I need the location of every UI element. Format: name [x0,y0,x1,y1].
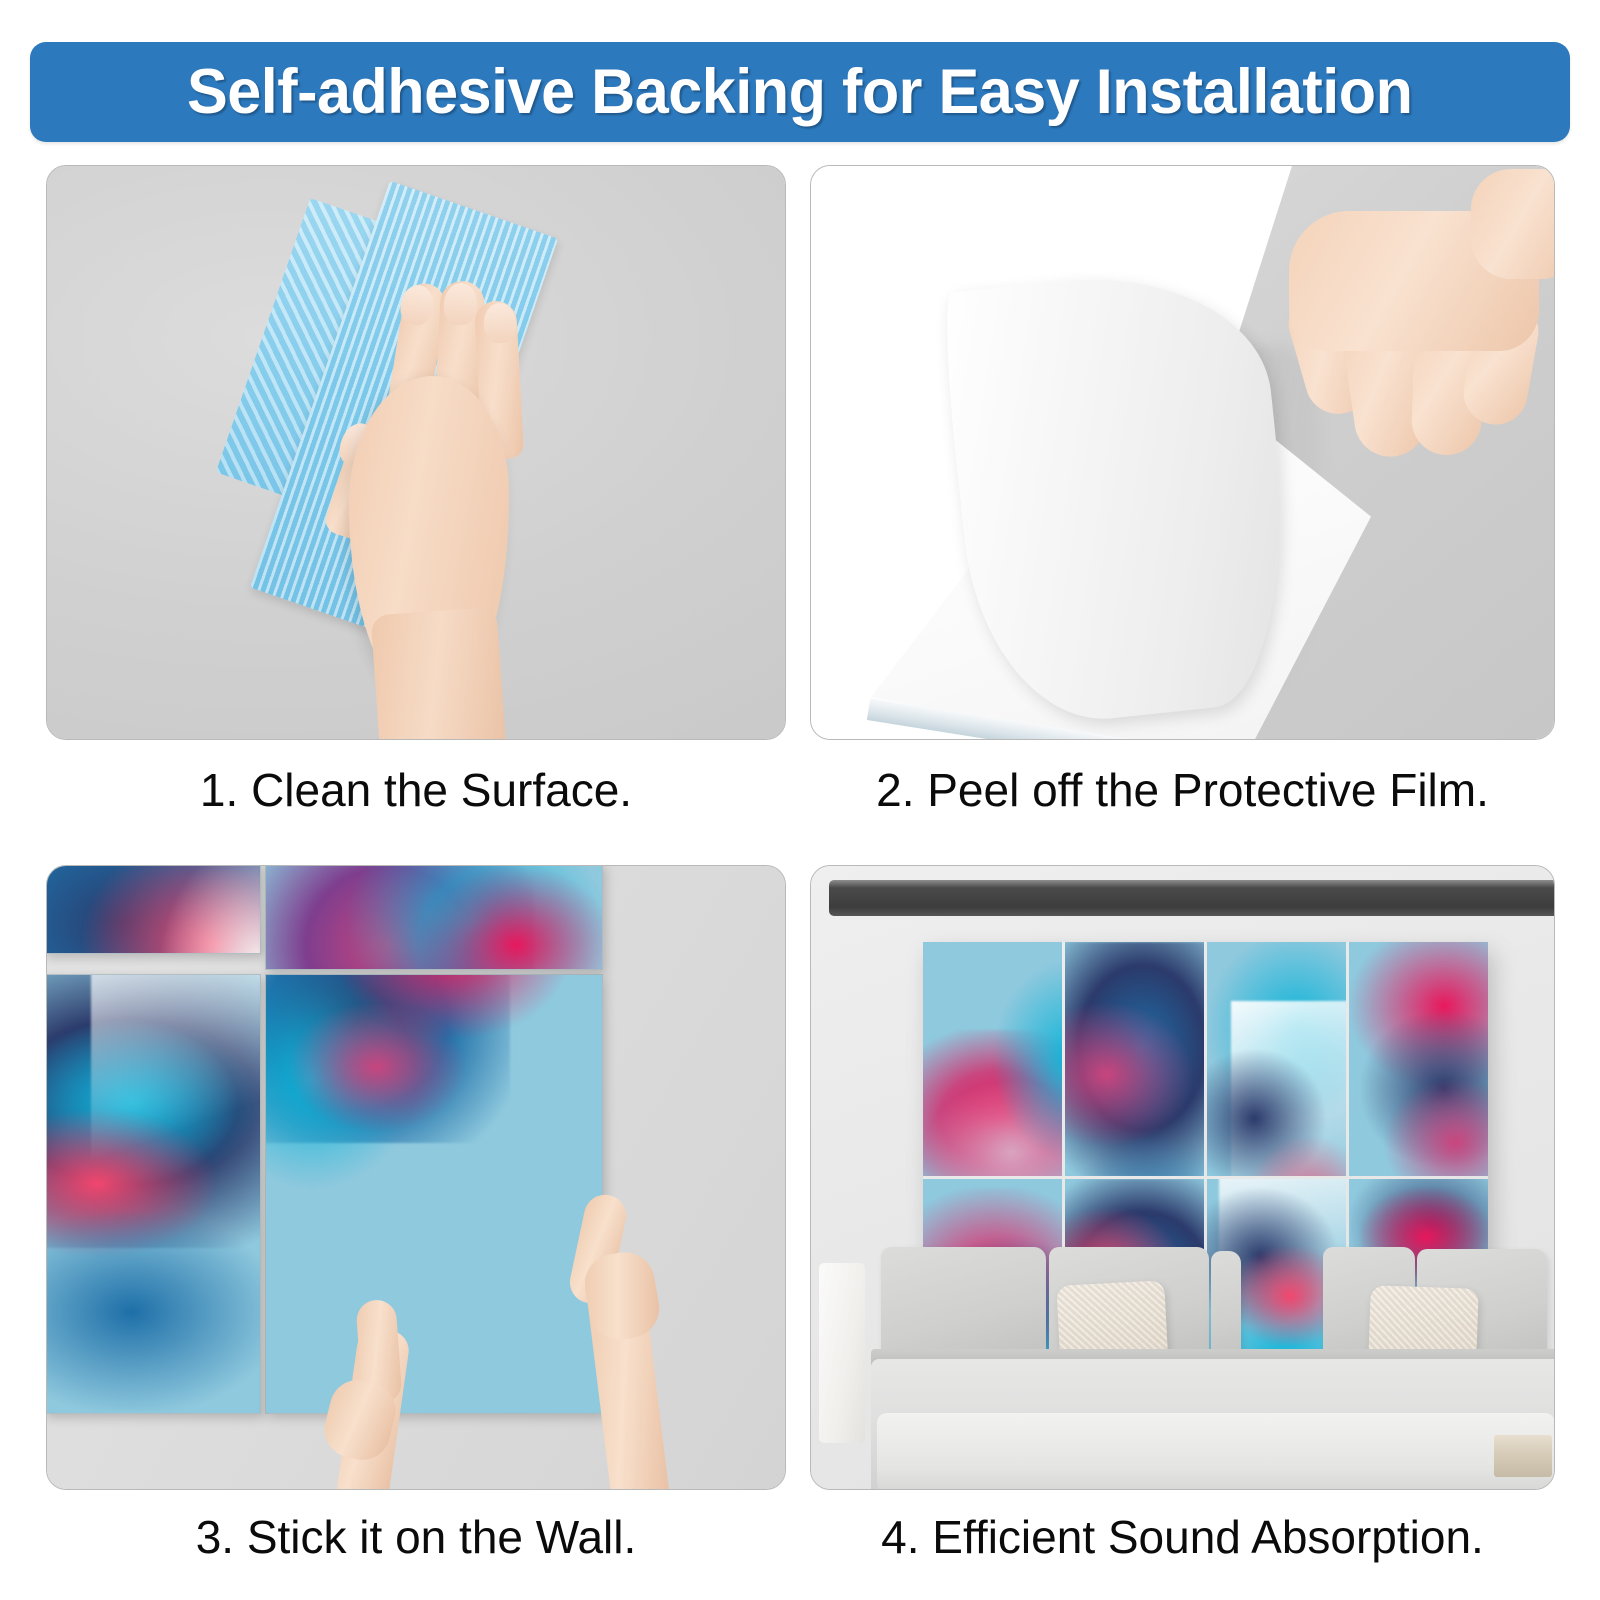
step-2-caption: 2. Peel off the Protective Film. [810,763,1555,817]
artwork-crop [46,974,261,1414]
art-panel-3[interactable] [1207,942,1346,1176]
stacked-books [1494,1435,1552,1477]
art-tile-bottom-right[interactable] [265,974,603,1414]
artwork-slice [1065,942,1204,1176]
blob-magenta [289,1003,464,1131]
step-1-caption: 1. Clean the Surface. [46,763,786,817]
step-4-photo [810,865,1555,1490]
artwork-crop [46,865,261,954]
blob-crimson [417,865,603,970]
artwork-crop [265,974,603,1414]
installed-art-tiles [46,865,603,1322]
blob-magenta [1065,1001,1195,1148]
artwork-layer [1207,942,1346,1176]
blob-white-highlight [161,865,261,954]
art-tile-top-right[interactable] [265,865,603,970]
step-2-photo [810,165,1555,740]
artwork-layer [265,974,603,1414]
header-banner: Self-adhesive Backing for Easy Installat… [30,42,1570,142]
artwork-crop [265,865,603,970]
ceiling-trim-bar [829,880,1555,916]
middle-fingernail [443,282,478,326]
blob-cheek-blue [1065,1138,1204,1176]
blob-white-highlight [91,974,261,1201]
blob-cyan [994,962,1062,1158]
artwork-layer [923,942,1062,1176]
step-1-photo [46,165,786,740]
art-panel-2[interactable] [1065,942,1204,1176]
art-panel-4[interactable] [1349,942,1488,1176]
artwork-slice [1207,942,1346,1176]
step-3-photo [46,865,786,1490]
step-4-caption: 4. Efficient Sound Absorption. [810,1510,1555,1564]
sofa [871,1249,1555,1490]
floor-lamp [819,1263,865,1443]
installation-steps-grid: 1. Clean the Surface. 2. Peel off the Pr… [0,160,1600,1600]
banner-title: Self-adhesive Backing for Easy Installat… [187,56,1413,128]
blob-lower-blue [46,1213,261,1411]
artwork-layer [46,974,261,1414]
artwork-layer [1349,942,1488,1176]
art-tile-bottom-left[interactable] [46,974,261,1414]
wrist [1471,169,1555,279]
artwork-slice [1349,942,1488,1176]
blob-cheek-pink [1243,1138,1346,1176]
art-panel-1[interactable] [923,942,1062,1176]
hand-peeling [1271,181,1555,511]
hand-wiping [277,281,537,740]
step-3-caption: 3. Stick it on the Wall. [46,1510,786,1564]
artwork-layer [1065,942,1204,1176]
wrist [371,607,510,740]
artwork-slice [923,942,1062,1176]
artwork-layer [46,865,261,954]
artwork-layer [265,865,603,970]
sofa-seat-cushion [877,1413,1555,1490]
art-tile-top-left[interactable] [46,865,261,954]
blob-magenta [1385,1079,1488,1175]
